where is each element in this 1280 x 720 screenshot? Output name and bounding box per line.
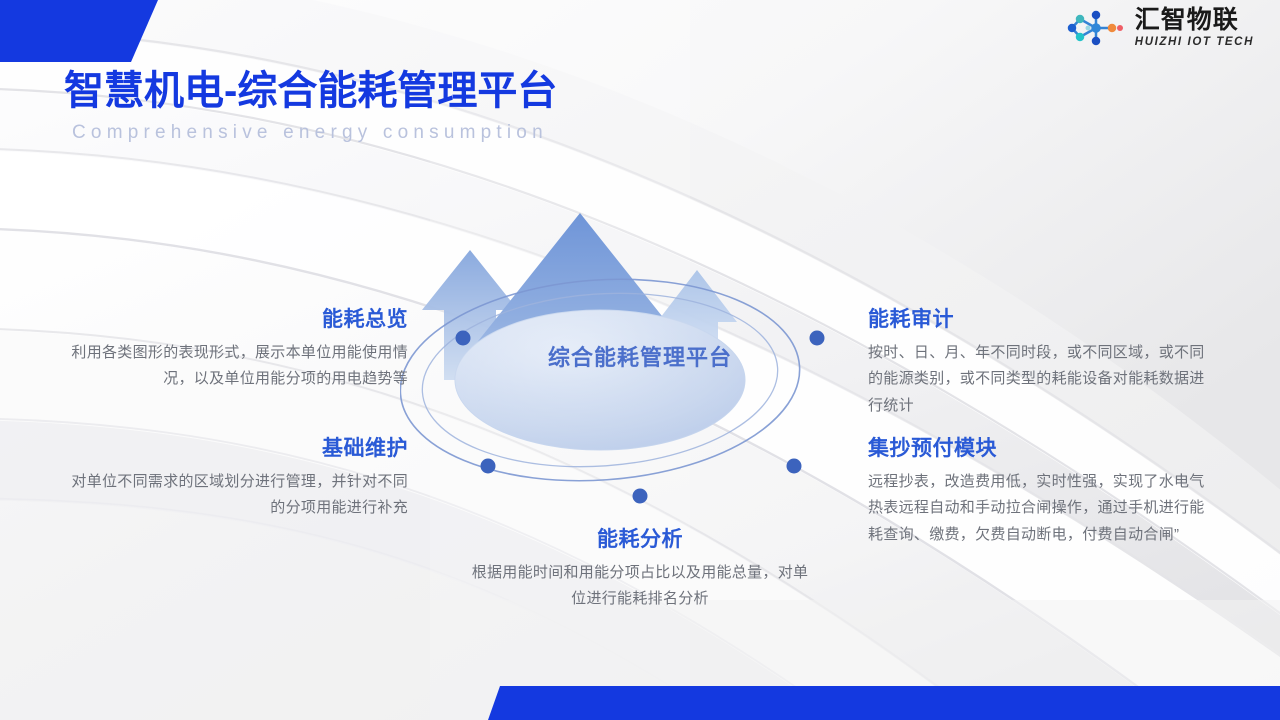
feature-overview: 能耗总览 利用各类图形的表现形式，展示本单位用能使用情况，以及单位用能分项的用电… bbox=[58, 303, 408, 393]
logo-brand-cn: 汇智物联 bbox=[1135, 8, 1254, 33]
center-hero-graphic bbox=[400, 205, 900, 535]
feature-prepaid-body: 远程抄表，改造费用低，实时性强，实现了水电气热表远程自动和手动拉合闸操作，通过手… bbox=[868, 469, 1218, 548]
bottom-right-blue-accent bbox=[450, 686, 1280, 720]
top-left-blue-accent bbox=[0, 0, 170, 62]
page-title: 智慧机电-综合能耗管理平台 bbox=[64, 68, 557, 114]
orbit-node-left-top bbox=[456, 331, 471, 346]
feature-prepaid: 集抄预付模块 远程抄表，改造费用低，实时性强，实现了水电气热表远程自动和手动拉合… bbox=[868, 432, 1218, 548]
feature-overview-body: 利用各类图形的表现形式，展示本单位用能使用情况，以及单位用能分项的用电趋势等 bbox=[58, 340, 408, 393]
feature-audit: 能耗审计 按时、日、月、年不同时段，或不同区域，或不同的能源类别，或不同类型的耗… bbox=[868, 303, 1218, 419]
feature-base-maintenance-body: 对单位不同需求的区域划分进行管理，并针对不同的分项用能进行补充 bbox=[58, 469, 408, 522]
feature-analysis-body: 根据用能时间和用能分项占比以及用能总量，对单位进行能耗排名分析 bbox=[465, 560, 815, 613]
feature-base-maintenance: 基础维护 对单位不同需求的区域划分进行管理，并针对不同的分项用能进行补充 bbox=[58, 432, 408, 522]
headline-block: 智慧机电-综合能耗管理平台 Comprehensive energy consu… bbox=[64, 68, 557, 144]
brand-logo: 汇智物联 HUIZHI IOT TECH bbox=[1065, 8, 1254, 49]
page-subtitle: Comprehensive energy consumption bbox=[72, 122, 557, 144]
feature-audit-body: 按时、日、月、年不同时段，或不同区域，或不同的能源类别，或不同类型的耗能设备对能… bbox=[868, 340, 1218, 419]
orbit-node-left-bottom bbox=[481, 459, 496, 474]
molecule-network-icon bbox=[1065, 8, 1127, 48]
slide-root: 汇智物联 HUIZHI IOT TECH 智慧机电-综合能耗管理平台 Compr… bbox=[0, 0, 1280, 720]
feature-base-maintenance-title: 基础维护 bbox=[58, 432, 408, 462]
feature-overview-title: 能耗总览 bbox=[58, 303, 408, 333]
feature-audit-title: 能耗审计 bbox=[868, 303, 1218, 333]
orbit-node-right-bottom bbox=[787, 459, 802, 474]
logo-brand-en: HUIZHI IOT TECH bbox=[1135, 37, 1254, 49]
feature-prepaid-title: 集抄预付模块 bbox=[868, 432, 1218, 462]
feature-analysis: 能耗分析 根据用能时间和用能分项占比以及用能总量，对单位进行能耗排名分析 bbox=[465, 523, 815, 613]
orbit-node-right-top bbox=[810, 331, 825, 346]
orbit-node-bottom bbox=[633, 489, 648, 504]
feature-analysis-title: 能耗分析 bbox=[465, 523, 815, 553]
